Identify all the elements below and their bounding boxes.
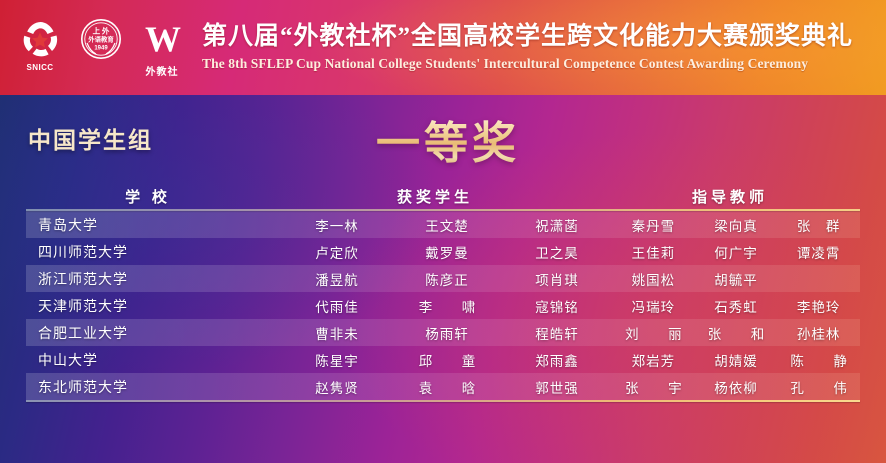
- cell-school: 四川师范大学: [26, 242, 282, 262]
- teacher-name: 胡毓平: [695, 269, 778, 289]
- sflep-w-icon: W: [145, 18, 179, 60]
- teacher-name: 张 和: [695, 323, 778, 343]
- cell-students: 李一林 王文楚 祝潇菡: [282, 215, 612, 235]
- header-banner: SNICC 上 外 外语教育 1949: [0, 0, 886, 95]
- student-name: 郭世强: [502, 377, 612, 397]
- column-header-teachers: 指导教师: [600, 186, 860, 207]
- table-header-row: 学 校 获奖学生 指导教师: [26, 183, 860, 209]
- content-area: 中国学生组 一等奖 学 校 获奖学生 指导教师 青岛大学 李一林 王文楚 祝潇菡: [0, 95, 886, 463]
- table-row: 中山大学 陈星宇 邱 童 郑雨鑫 郑岩芳 胡婧媛 陈 静: [26, 346, 860, 373]
- student-name: 代雨佳: [282, 296, 392, 316]
- cell-students: 代雨佳 李 啸 寇锦铭: [282, 296, 612, 316]
- student-name: 寇锦铭: [502, 296, 612, 316]
- teacher-name: 秦丹雪: [612, 215, 695, 235]
- winners-table: 学 校 获奖学生 指导教师 青岛大学 李一林 王文楚 祝潇菡 秦丹雪 梁向真: [26, 183, 860, 402]
- svg-text:外语教育: 外语教育: [88, 34, 114, 43]
- student-name: 祝潇菡: [502, 215, 612, 235]
- student-name: 郑雨鑫: [502, 350, 612, 370]
- table-row: 四川师范大学 卢定欣 戴罗曼 卫之昊 王佳莉 何广宇 谭凌霄: [26, 238, 860, 265]
- cell-teachers: 秦丹雪 梁向真 张 群: [612, 215, 860, 235]
- snicc-logo-caption: SNICC: [27, 63, 54, 72]
- student-name: 项肖琪: [502, 269, 612, 289]
- teacher-name: 李艳玲: [777, 296, 860, 316]
- student-name: 李一林: [282, 215, 392, 235]
- cell-teachers: 姚国松 胡毓平: [612, 269, 860, 289]
- cell-students: 潘昱航 陈彦正 项肖琪: [282, 269, 612, 289]
- teacher-name: 张 宇: [612, 377, 695, 397]
- table-row: 东北师范大学 赵隽贤 袁 晗 郭世强 张 宇 杨依柳 孔 伟: [26, 373, 860, 400]
- column-header-students: 获奖学生: [270, 186, 600, 207]
- cell-teachers: 郑岩芳 胡婧媛 陈 静: [612, 350, 860, 370]
- cell-students: 曹非未 杨雨轩 程皓轩: [282, 323, 612, 343]
- student-name: 卫之昊: [502, 242, 612, 262]
- teacher-name: 刘 丽: [612, 323, 695, 343]
- teacher-name: 梁向真: [695, 215, 778, 235]
- student-name: 卢定欣: [282, 242, 392, 262]
- header-titles: 第八届“外教社杯”全国高校学生跨文化能力大赛颁奖典礼 The 8th SFLEP…: [202, 22, 886, 74]
- teacher-name: 姚国松: [612, 269, 695, 289]
- student-name: 潘昱航: [282, 269, 392, 289]
- cell-school: 中山大学: [26, 350, 282, 370]
- student-name: 曹非未: [282, 323, 392, 343]
- cell-students: 陈星宇 邱 童 郑雨鑫: [282, 350, 612, 370]
- cell-teachers: 刘 丽 张 和 孙桂林: [612, 323, 860, 343]
- teacher-name: 胡婧媛: [695, 350, 778, 370]
- svg-text:1949: 1949: [94, 45, 108, 51]
- student-name: 戴罗曼: [392, 242, 502, 262]
- student-name: 程皓轩: [502, 323, 612, 343]
- student-name: 李 啸: [392, 296, 502, 316]
- cell-school: 浙江师范大学: [26, 269, 282, 289]
- teacher-name: 孔 伟: [777, 377, 860, 397]
- student-name: 陈星宇: [282, 350, 392, 370]
- snicc-star-icon: [20, 18, 60, 60]
- teacher-name: 杨依柳: [695, 377, 778, 397]
- student-name: 陈彦正: [392, 269, 502, 289]
- table-row: 合肥工业大学 曹非未 杨雨轩 程皓轩 刘 丽 张 和 孙桂林: [26, 319, 860, 346]
- table-row: 浙江师范大学 潘昱航 陈彦正 项肖琪 姚国松 胡毓平: [26, 265, 860, 292]
- student-name: 赵隽贤: [282, 377, 392, 397]
- student-name: 杨雨轩: [392, 323, 502, 343]
- snicc-logo: SNICC: [14, 18, 66, 72]
- ceremony-title-en: The 8th SFLEP Cup National College Stude…: [202, 54, 880, 74]
- table-row: 青岛大学 李一林 王文楚 祝潇菡 秦丹雪 梁向真 张 群: [26, 211, 860, 238]
- teacher-name: 冯瑞玲: [612, 296, 695, 316]
- cell-teachers: 张 宇 杨依柳 孔 伟: [612, 377, 860, 397]
- cell-teachers: 王佳莉 何广宇 谭凌霄: [612, 242, 860, 262]
- ceremony-title-cn: 第八届“外教社杯”全国高校学生跨文化能力大赛颁奖典礼: [202, 22, 880, 52]
- shisu-seal-icon: 上 外 外语教育 1949: [80, 18, 122, 60]
- sflep-w-logo: W 外教社: [136, 18, 188, 78]
- cell-school: 合肥工业大学: [26, 323, 282, 343]
- cell-school: 天津师范大学: [26, 296, 282, 316]
- table-bottom-rule: [26, 400, 860, 402]
- teacher-name: 孙桂林: [777, 323, 860, 343]
- logo-group: SNICC 上 外 外语教育 1949: [14, 18, 188, 78]
- student-name: 袁 晗: [392, 377, 502, 397]
- table-row: 天津师范大学 代雨佳 李 啸 寇锦铭 冯瑞玲 石秀虹 李艳玲: [26, 292, 860, 319]
- student-name: 王文楚: [392, 215, 502, 235]
- teacher-name: 谭凌霄: [777, 242, 860, 262]
- column-header-school: 学 校: [26, 186, 270, 207]
- teacher-name: 王佳莉: [612, 242, 695, 262]
- cell-school: 青岛大学: [26, 215, 282, 235]
- shisu-seal-logo: 上 外 外语教育 1949: [75, 18, 127, 63]
- award-label: 一等奖: [0, 107, 886, 171]
- teacher-name: 何广宇: [695, 242, 778, 262]
- award-ceremony-slide: SNICC 上 外 外语教育 1949: [0, 0, 886, 463]
- teacher-name: 石秀虹: [695, 296, 778, 316]
- teacher-name: 陈 静: [777, 350, 860, 370]
- cell-students: 卢定欣 戴罗曼 卫之昊: [282, 242, 612, 262]
- teacher-name: 张 群: [777, 215, 860, 235]
- cell-teachers: 冯瑞玲 石秀虹 李艳玲: [612, 296, 860, 316]
- student-name: 邱 童: [392, 350, 502, 370]
- sflep-logo-caption: 外教社: [146, 63, 179, 78]
- teacher-name: 郑岩芳: [612, 350, 695, 370]
- w-glyph: W: [145, 21, 179, 57]
- svg-text:上 外: 上 外: [93, 25, 110, 35]
- cell-school: 东北师范大学: [26, 377, 282, 397]
- cell-students: 赵隽贤 袁 晗 郭世强: [282, 377, 612, 397]
- award-heading-row: 中国学生组 一等奖: [0, 95, 886, 183]
